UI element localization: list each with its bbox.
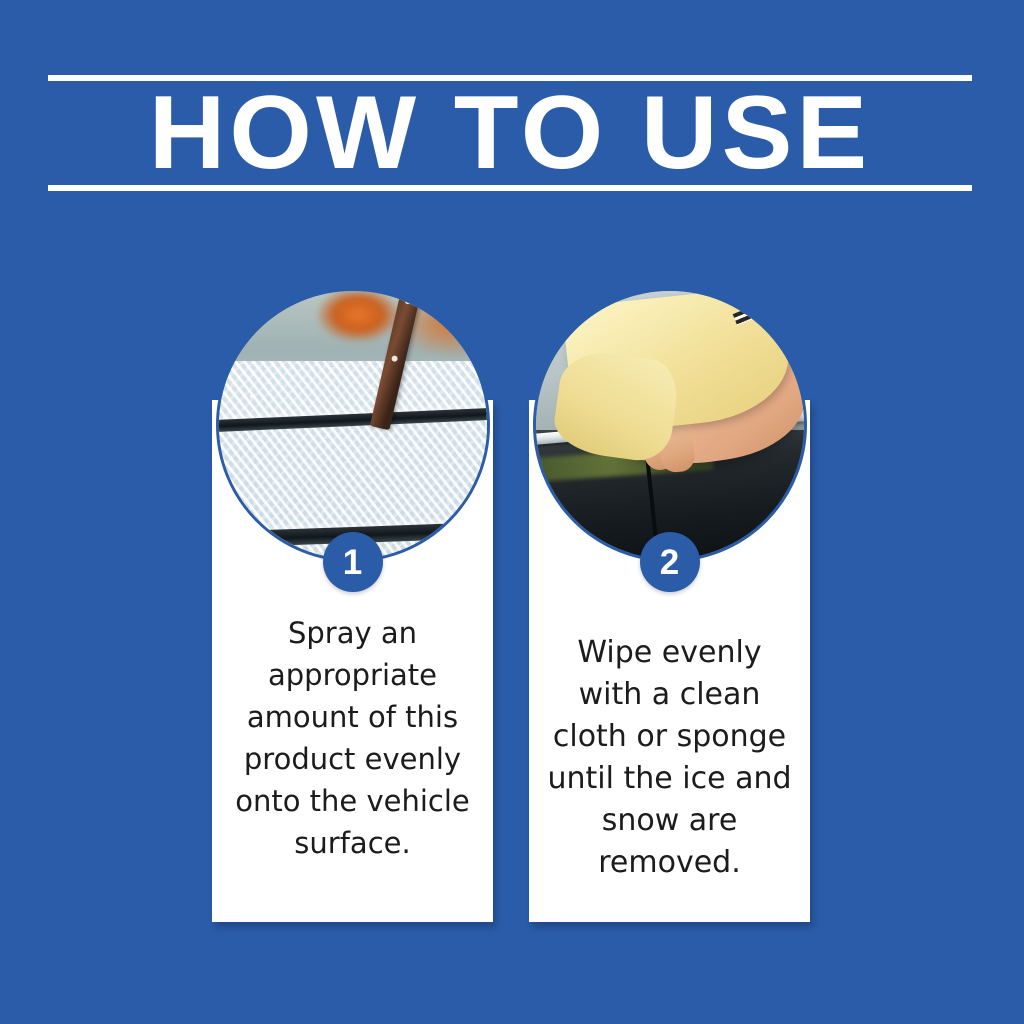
title-rule-bottom <box>48 185 972 191</box>
step-card-1: 1 Spray an appropriate amount of this pr… <box>212 400 493 922</box>
how-to-use-poster: HOW TO USE 1 Spray an appropriate amount… <box>0 0 1024 1024</box>
step-2-description: Wipe evenly with a clean cloth or sponge… <box>543 632 796 884</box>
frosted-windshield-photo <box>219 291 487 559</box>
header: HOW TO USE <box>48 75 972 191</box>
step-badge-2: 2 <box>640 532 700 592</box>
step-1-description: Spray an appropriate amount of this prod… <box>226 612 479 864</box>
step-badge-1: 1 <box>323 532 383 592</box>
step-1-image <box>216 288 490 562</box>
step-card-2: 2 Wipe evenly with a clean cloth or spon… <box>529 400 810 922</box>
hand-wiping-window-photo <box>536 291 804 559</box>
step-2-image <box>533 288 807 562</box>
page-title: HOW TO USE <box>39 81 981 185</box>
